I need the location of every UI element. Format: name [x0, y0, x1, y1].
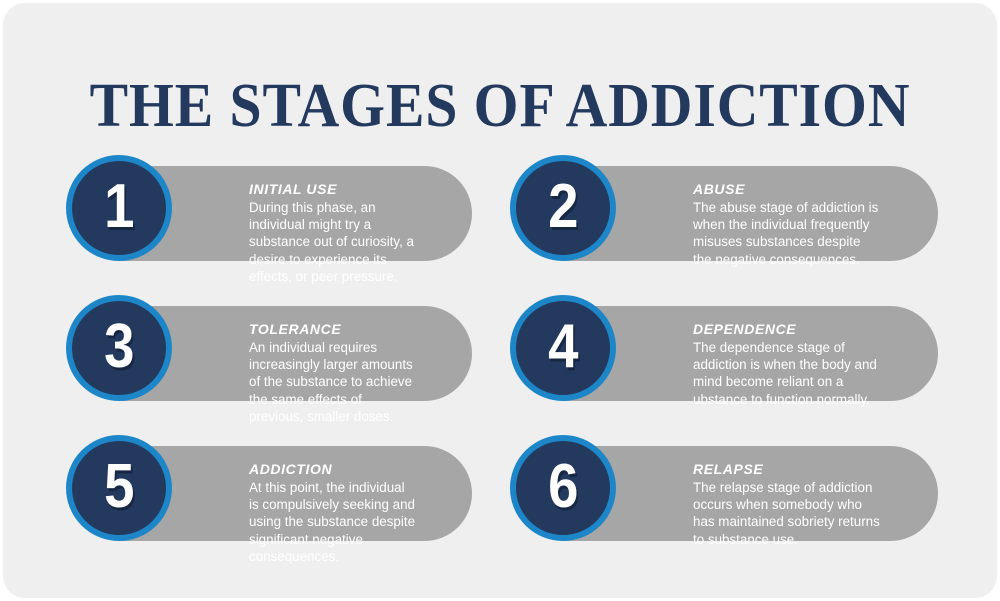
stage-pill-4: DEPENDENCE The dependence stage of addic…: [563, 306, 938, 401]
stage-badge-3: 3: [66, 295, 172, 401]
stage-number-2: 2: [548, 176, 578, 238]
stage-heading-2: ABUSE: [693, 181, 882, 197]
stage-body-6: The relapse stage of addiction occurs wh…: [693, 479, 882, 548]
stage-pill-5: ADDICTION At this point, the individual …: [119, 446, 472, 541]
stage-heading-5: ADDICTION: [249, 461, 416, 477]
stage-card-4[interactable]: DEPENDENCE The dependence stage of addic…: [510, 295, 916, 420]
stage-card-1[interactable]: INITIAL USE During this phase, an indivi…: [66, 155, 472, 280]
stage-pill-1: INITIAL USE During this phase, an indivi…: [119, 166, 472, 261]
stage-number-5: 5: [104, 456, 134, 518]
stage-pill-3: TOLERANCE An individual requires increas…: [119, 306, 472, 401]
stage-number-6: 6: [548, 456, 578, 518]
stage-number-3: 3: [104, 316, 134, 378]
stage-badge-5: 5: [66, 435, 172, 541]
infographic-root: THE STAGES OF ADDICTION INITIAL USE Duri…: [0, 0, 1000, 601]
stage-badge-4: 4: [510, 295, 616, 401]
stage-card-3[interactable]: TOLERANCE An individual requires increas…: [66, 295, 472, 420]
stage-pill-6: RELAPSE The relapse stage of addiction o…: [563, 446, 938, 541]
stage-body-4: The dependence stage of addiction is whe…: [693, 339, 882, 408]
stage-card-5[interactable]: ADDICTION At this point, the individual …: [66, 435, 472, 560]
page-title: THE STAGES OF ADDICTION: [35, 70, 965, 142]
stage-card-2[interactable]: ABUSE The abuse stage of addiction is wh…: [510, 155, 916, 280]
stage-heading-3: TOLERANCE: [249, 321, 416, 337]
stage-body-5: At this point, the individual is compuls…: [249, 479, 416, 565]
stage-body-3: An individual requires increasingly larg…: [249, 339, 416, 425]
stage-body-2: The abuse stage of addiction is when the…: [693, 199, 882, 268]
stage-heading-4: DEPENDENCE: [693, 321, 882, 337]
stage-number-1: 1: [104, 176, 134, 238]
stage-heading-1: INITIAL USE: [249, 181, 416, 197]
stages-grid: INITIAL USE During this phase, an indivi…: [66, 155, 934, 575]
stage-badge-1: 1: [66, 155, 172, 261]
stage-pill-2: ABUSE The abuse stage of addiction is wh…: [563, 166, 938, 261]
stage-badge-6: 6: [510, 435, 616, 541]
stage-badge-2: 2: [510, 155, 616, 261]
stage-number-4: 4: [548, 316, 578, 378]
stage-card-6[interactable]: RELAPSE The relapse stage of addiction o…: [510, 435, 916, 560]
stage-heading-6: RELAPSE: [693, 461, 882, 477]
stage-body-1: During this phase, an individual might t…: [249, 199, 416, 285]
